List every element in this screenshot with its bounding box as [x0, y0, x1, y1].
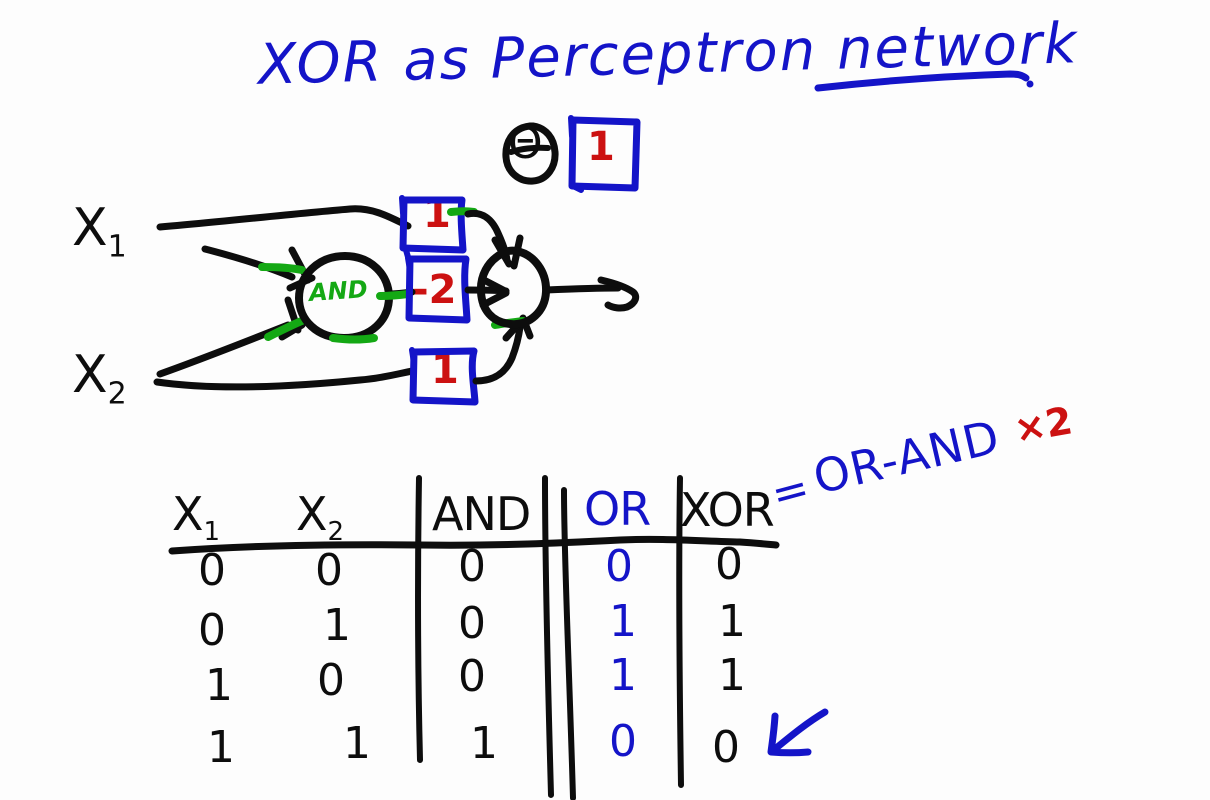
whiteboard-canvas: XOR as Perceptron network Θ 1 X1 X2 AND …: [0, 0, 1210, 800]
highlight-and-under: [333, 338, 374, 340]
theta-bar: [511, 148, 548, 152]
wire-x1-to-top-weight: [160, 209, 408, 227]
table-divider-and: [418, 478, 420, 760]
weight-box-middle: [409, 259, 467, 320]
weight-box-bottom-tail: [412, 350, 414, 363]
table-divider-xor: [679, 478, 681, 785]
highlight-and-output: [380, 294, 408, 296]
table-header-rule: [172, 539, 776, 551]
wire-x2-to-bottom-weight: [157, 371, 413, 387]
weight-box-middle-tail: [408, 258, 410, 270]
output-arrowhead: [601, 280, 636, 308]
wire-x1-to-and: [205, 249, 292, 277]
highlight-arrow: [775, 712, 825, 749]
weight-box-top: [403, 200, 463, 250]
ink-strokes-layer: [0, 0, 1210, 800]
table-divider-double-b: [564, 490, 573, 798]
wire-bottom-weight-to-output: [476, 327, 520, 381]
and-neuron-circle: [299, 256, 389, 338]
highlight-x1-and: [262, 267, 302, 270]
title-underline: [818, 74, 1026, 88]
weight-box-bottom: [413, 351, 475, 402]
table-divider-double-a: [545, 478, 551, 795]
output-arrow-line: [546, 288, 618, 290]
bias-weight-box: [572, 120, 637, 188]
title-period: [1027, 81, 1034, 88]
